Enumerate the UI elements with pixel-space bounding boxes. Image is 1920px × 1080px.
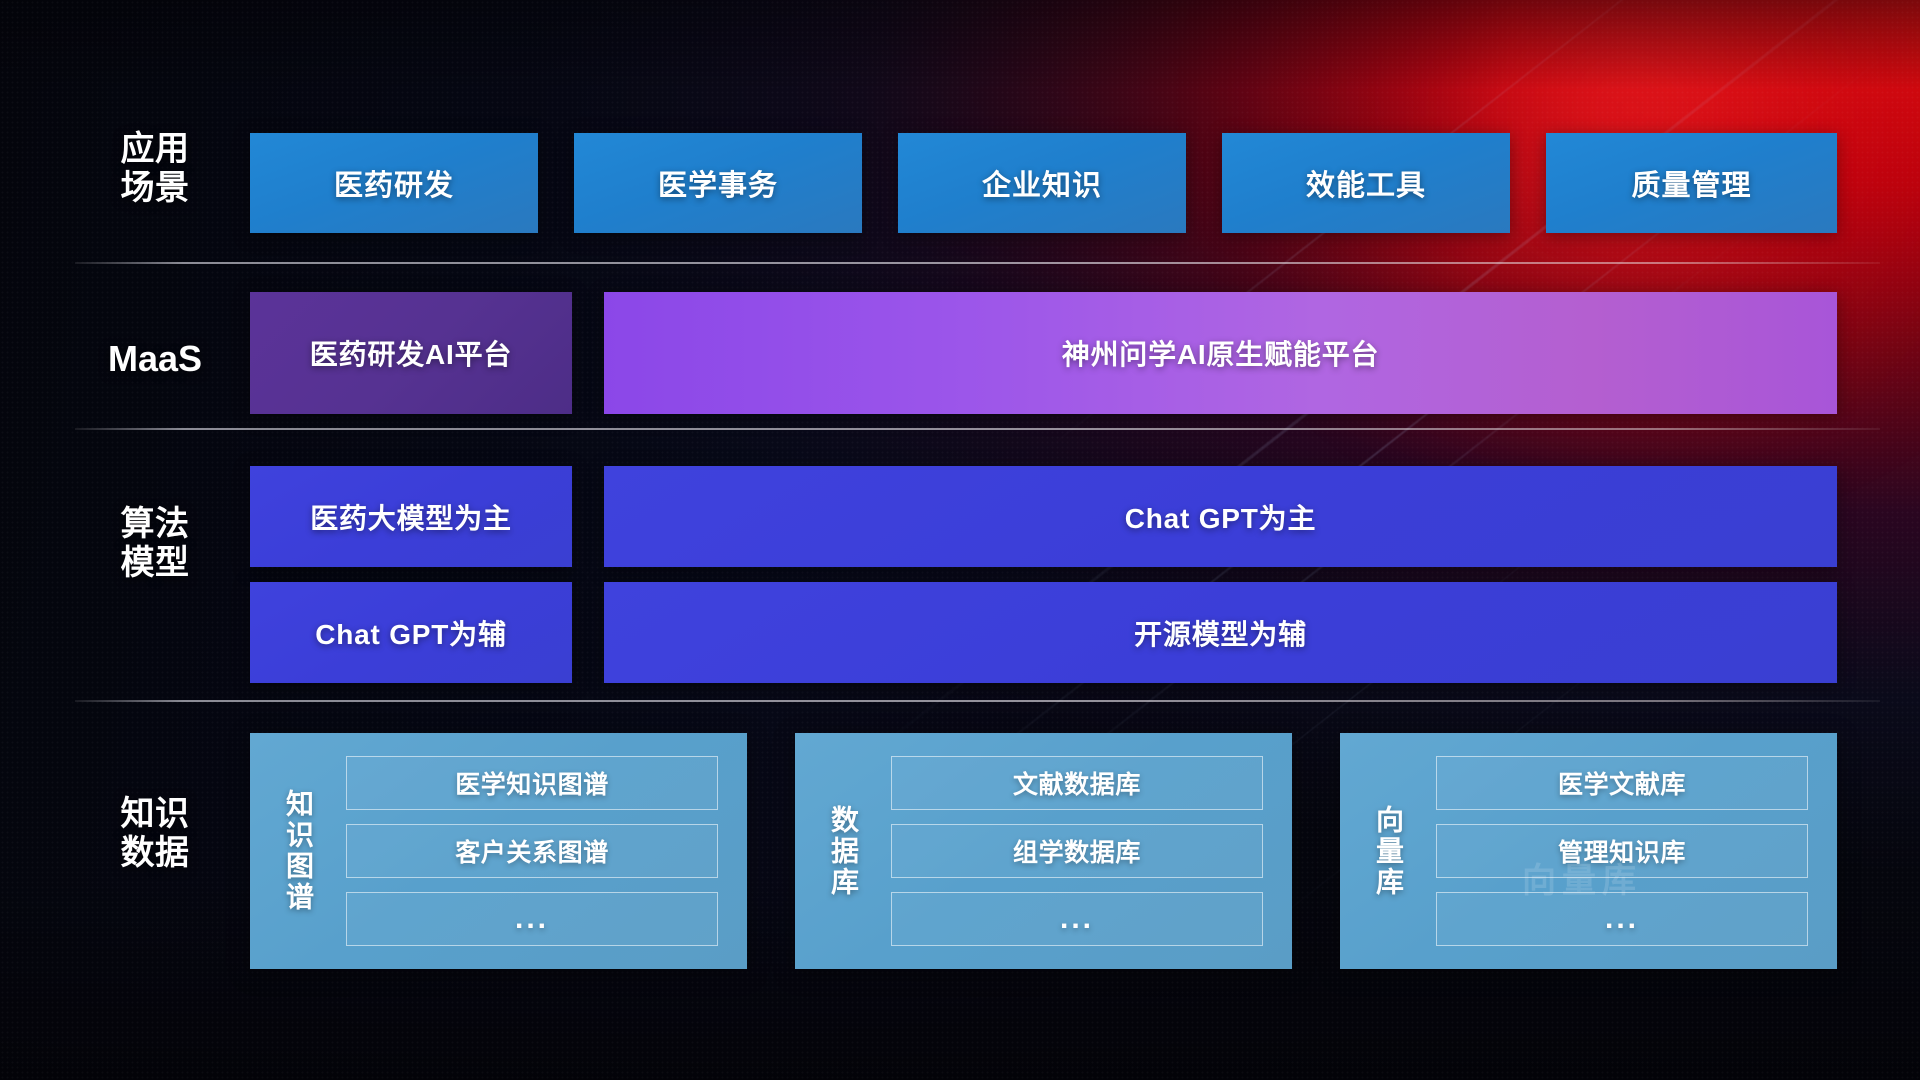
row-label-maas: MaaS bbox=[75, 338, 235, 380]
scenario-cell-2[interactable]: 医学事务 bbox=[574, 133, 862, 233]
knowledge-card-item[interactable]: 组学数据库 bbox=[891, 824, 1263, 878]
model-cell-label: Chat GPT为主 bbox=[1125, 497, 1317, 537]
row-divider-2 bbox=[75, 428, 1880, 430]
maas-cell-label: 医药研发AI平台 bbox=[310, 333, 512, 373]
model-cell-label: Chat GPT为辅 bbox=[315, 613, 507, 653]
row-label-application-scenarios: 应用 场景 bbox=[75, 130, 235, 209]
row-label-line: 知识 bbox=[75, 795, 235, 834]
row-label-line: 数据 bbox=[75, 834, 235, 873]
knowledge-card-item-list: 文献数据库 组学数据库 ... bbox=[891, 733, 1277, 969]
maas-cell-enablement-platform[interactable]: 神州问学AI原生赋能平台 bbox=[604, 292, 1837, 414]
scenario-cell-label: 效能工具 bbox=[1306, 162, 1426, 204]
model-cell-label: 医药大模型为主 bbox=[310, 497, 512, 537]
knowledge-card-item[interactable]: 医学文献库 bbox=[1436, 756, 1808, 810]
knowledge-card-item-list: 医学文献库 管理知识库 ... bbox=[1436, 733, 1822, 969]
knowledge-card-side-label: 向量库 bbox=[1340, 733, 1436, 969]
row-label-line: 应用 bbox=[75, 130, 235, 169]
knowledge-card-item[interactable]: 客户关系图谱 bbox=[346, 824, 718, 878]
knowledge-card-item[interactable]: ... bbox=[346, 892, 718, 946]
maas-cell-pharma-platform[interactable]: 医药研发AI平台 bbox=[250, 292, 572, 414]
scenario-cell-4[interactable]: 效能工具 bbox=[1222, 133, 1510, 233]
scenario-cell-label: 企业知识 bbox=[982, 162, 1102, 204]
maas-cell-label: 神州问学AI原生赋能平台 bbox=[1062, 333, 1380, 373]
scenario-cell-1[interactable]: 医药研发 bbox=[250, 133, 538, 233]
knowledge-card-item[interactable]: ... bbox=[891, 892, 1263, 946]
model-cell-chatgpt-primary[interactable]: Chat GPT为主 bbox=[604, 466, 1837, 567]
row-divider-3 bbox=[75, 700, 1880, 702]
knowledge-card-side-label: 知识图谱 bbox=[250, 733, 346, 969]
scenario-cell-label: 质量管理 bbox=[1631, 162, 1751, 204]
row-label-knowledge-data: 知识 数据 bbox=[75, 795, 235, 874]
scenario-cell-label: 医药研发 bbox=[334, 162, 454, 204]
knowledge-card-side-label: 数据库 bbox=[795, 733, 891, 969]
knowledge-card-item[interactable]: 医学知识图谱 bbox=[346, 756, 718, 810]
model-cell-pharma-primary[interactable]: 医药大模型为主 bbox=[250, 466, 572, 567]
scenario-cell-label: 医学事务 bbox=[658, 162, 778, 204]
scenario-cell-5[interactable]: 质量管理 bbox=[1546, 133, 1837, 233]
row-label-line: MaaS bbox=[75, 338, 235, 380]
scenario-cell-3[interactable]: 企业知识 bbox=[898, 133, 1186, 233]
row-label-line: 算法 bbox=[75, 505, 235, 544]
knowledge-card-database[interactable]: 数据库 文献数据库 组学数据库 ... bbox=[795, 733, 1292, 969]
knowledge-card-vector[interactable]: 向量库 医学文献库 管理知识库 ... 向量库 bbox=[1340, 733, 1837, 969]
model-cell-chatgpt-secondary[interactable]: Chat GPT为辅 bbox=[250, 582, 572, 683]
row-divider-1 bbox=[75, 262, 1880, 264]
row-label-line: 模型 bbox=[75, 544, 235, 583]
model-cell-label: 开源模型为辅 bbox=[1134, 613, 1307, 653]
knowledge-card-graph[interactable]: 知识图谱 医学知识图谱 客户关系图谱 ... bbox=[250, 733, 747, 969]
knowledge-card-item-list: 医学知识图谱 客户关系图谱 ... bbox=[346, 733, 732, 969]
model-cell-opensource-secondary[interactable]: 开源模型为辅 bbox=[604, 582, 1837, 683]
architecture-diagram: 应用 场景 医药研发 医学事务 企业知识 效能工具 质量管理 MaaS 医药研发… bbox=[0, 0, 1920, 1080]
watermark-text: 向量库 bbox=[1522, 853, 1642, 902]
row-label-line: 场景 bbox=[75, 169, 235, 208]
knowledge-card-item[interactable]: 文献数据库 bbox=[891, 756, 1263, 810]
row-label-algorithm-model: 算法 模型 bbox=[75, 505, 235, 584]
